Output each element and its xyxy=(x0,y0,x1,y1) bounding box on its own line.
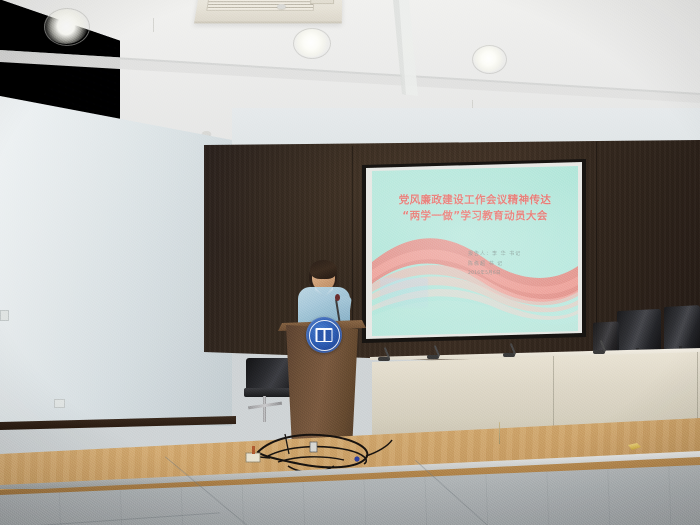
wall-light-switch[interactable] xyxy=(0,310,9,321)
downlight-2-ring xyxy=(293,28,331,59)
downlight-3-ring xyxy=(472,45,507,74)
projection-screen-surface: 党风廉政建设工作会议精神传达 “两学一做”学习教育动员大会 报告人：李 华 书记… xyxy=(372,166,578,336)
ac-control-panel xyxy=(310,0,334,4)
slide-date-line: 2016年5月6日 xyxy=(468,270,574,279)
ac-louvers xyxy=(206,0,314,11)
stage-chair-2 xyxy=(664,305,700,351)
slide-title-block: 党风廉政建设工作会议精神传达 “两学一做”学习教育动员大会 xyxy=(372,192,578,225)
slide-presenter-line: 报告人：李 华 书记 xyxy=(468,250,574,260)
ceiling-hanging-wire-2 xyxy=(153,18,154,32)
downlight-1-ring xyxy=(44,8,90,46)
stage-chair-1 xyxy=(617,309,661,353)
side-chair-seat xyxy=(244,388,296,397)
left-wall-shading xyxy=(0,96,232,426)
conference-hall-photo: 党风廉政建设工作会议精神传达 “两学一做”学习教育动员大会 报告人：李 华 书记… xyxy=(0,0,700,525)
slide-title-line-1: 党风廉政建设工作会议精神传达 xyxy=(372,192,578,208)
smoke-detector-3 xyxy=(277,4,286,9)
stage-mic-stand xyxy=(499,422,500,444)
university-seal-emblem xyxy=(306,317,342,353)
slide-title-line-2: “两学一做”学习教育动员大会 xyxy=(372,208,578,224)
ceiling-ac-cassette xyxy=(194,0,342,23)
slide-subtitle-block: 报告人：李 华 书记 陈栋超 书 记 2016年5月6日 xyxy=(468,250,574,278)
slide-watermark-block xyxy=(380,278,428,308)
wall-outlet[interactable] xyxy=(54,399,65,408)
emblem-center-mark xyxy=(316,328,333,342)
podium-microphone-head xyxy=(335,294,340,301)
presenter-hair xyxy=(310,260,337,279)
slide-presenter-line-2: 陈栋超 书 记 xyxy=(468,260,574,270)
